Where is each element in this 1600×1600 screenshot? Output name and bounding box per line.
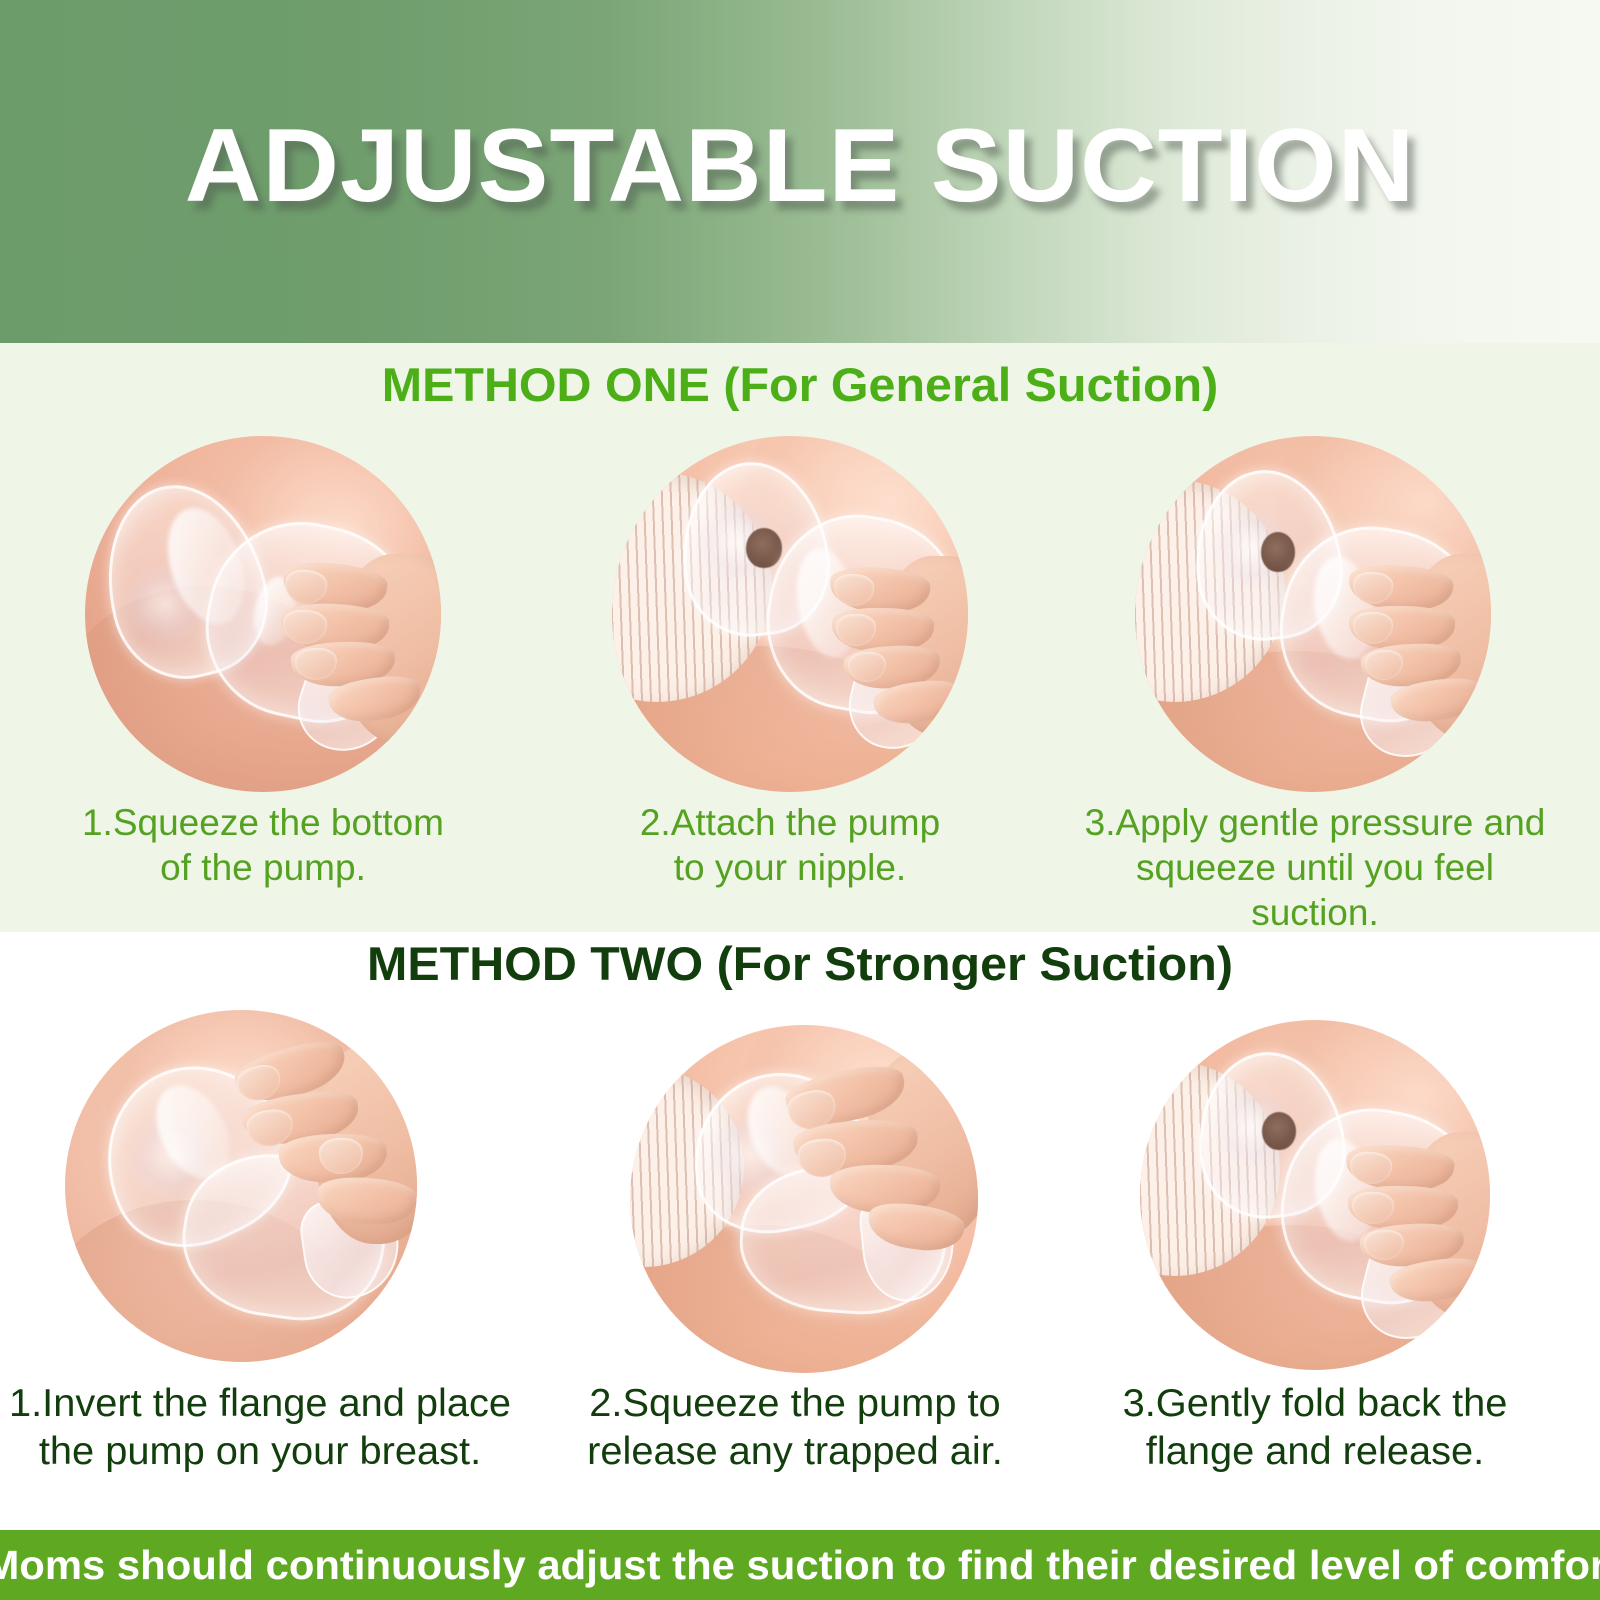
infographic-page: ADJUSTABLE SUCTION METHOD ONE (For Gener… <box>0 0 1600 1600</box>
method-one-section: METHOD ONE (For General Suction) <box>0 343 1600 932</box>
nipple <box>1261 532 1295 572</box>
method-two-step-3-photo <box>1140 1020 1490 1370</box>
method-one-step-3-photo <box>1135 436 1491 792</box>
footer-note-bar: *Moms should continuously adjust the suc… <box>0 1530 1600 1600</box>
method-one-step-3-caption: 3.Apply gentle pressure and squeeze unti… <box>1040 800 1590 935</box>
nipple <box>746 528 782 568</box>
method-one-step-2-caption: 2.Attach the pump to your nipple. <box>547 800 1033 890</box>
method-two-step-2-caption: 2.Squeeze the pump to release any trappe… <box>540 1380 1050 1476</box>
header-banner: ADJUSTABLE SUCTION <box>0 0 1600 343</box>
method-two-section: METHOD TWO (For Stronger Suction) <box>0 932 1600 1530</box>
method-one-step-1-photo <box>85 436 441 792</box>
method-two-step-1-caption: 1.Invert the flange and place the pump o… <box>0 1380 525 1476</box>
method-two-step-3-caption: 3.Gently fold back the flange and releas… <box>1070 1380 1560 1476</box>
footer-note-text: *Moms should continuously adjust the suc… <box>0 1530 1600 1600</box>
method-one-step-2-photo <box>612 436 968 792</box>
method-one-step-1-caption: 1.Squeeze the bottom of the pump. <box>20 800 506 890</box>
method-two-heading: METHOD TWO (For Stronger Suction) <box>0 936 1600 992</box>
page-title: ADJUSTABLE SUCTION <box>0 108 1600 224</box>
nipple <box>1262 1112 1296 1150</box>
method-two-step-2-photo <box>630 1025 978 1373</box>
method-two-step-1-photo <box>65 1010 417 1362</box>
method-one-heading: METHOD ONE (For General Suction) <box>0 357 1600 413</box>
